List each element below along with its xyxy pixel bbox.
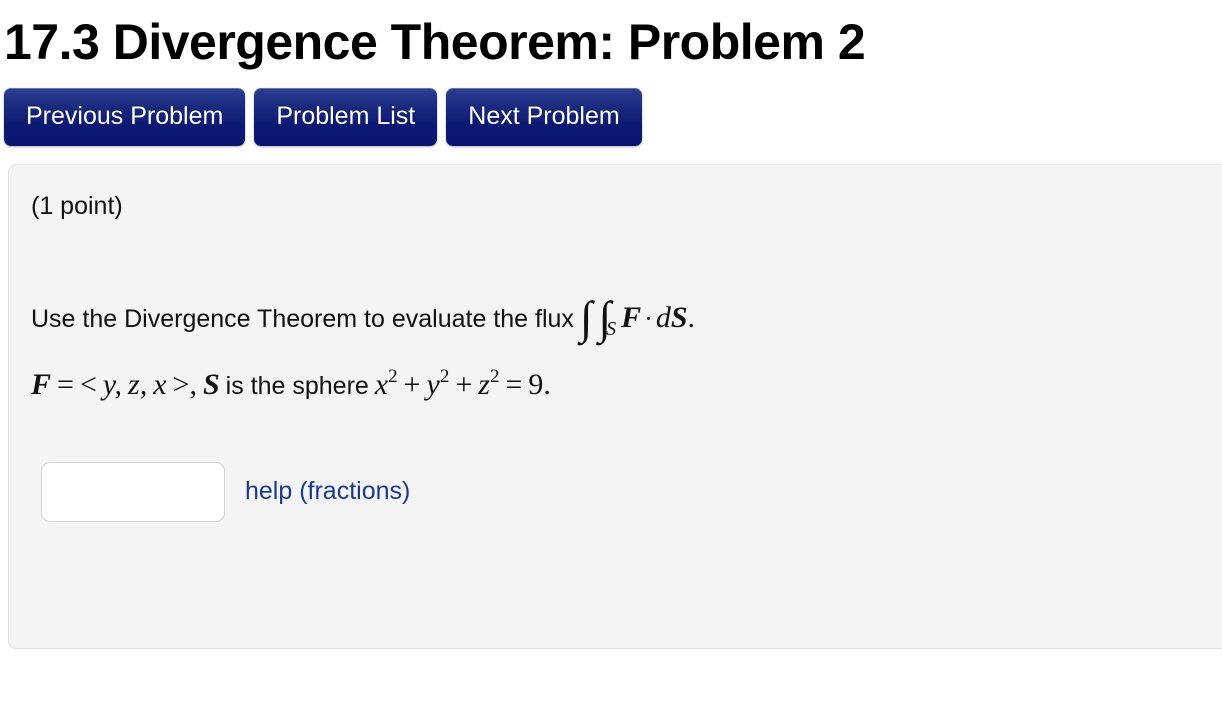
next-problem-button[interactable]: Next Problem — [446, 88, 641, 146]
field-component-3: x — [153, 368, 166, 401]
answer-row: help (fractions) — [31, 462, 1201, 522]
differential-d: d — [656, 301, 671, 334]
sphere-plus-1: + — [404, 368, 421, 401]
sphere-radius-squared-value: 9 — [528, 368, 543, 401]
sphere-plus-2: + — [455, 368, 472, 401]
sphere-sentence-period: . — [543, 368, 551, 401]
field-component-1: y, — [103, 368, 122, 401]
vector-field-symbol: F — [621, 301, 641, 334]
page-title: 17.3 Divergence Theorem: Problem 2 — [0, 0, 1222, 72]
answer-input[interactable] — [41, 462, 225, 522]
previous-problem-button[interactable]: Previous Problem — [4, 88, 245, 146]
sphere-term-3-exponent: 2 — [490, 366, 500, 387]
sphere-term-3-base: z — [478, 368, 490, 401]
angle-bracket-open: < — [80, 368, 97, 401]
field-definition-line: F=<y,z,x>,Sis the spherex2+y2+z2=9. — [31, 366, 1201, 404]
angle-bracket-close: > — [173, 368, 190, 401]
prompt-text: Use the Divergence Theorem to evaluate t… — [31, 305, 574, 333]
integral-subscript-surface: S — [606, 318, 616, 340]
problem-list-button[interactable]: Problem List — [254, 88, 437, 146]
field-symbol: F — [31, 368, 51, 401]
differential-surface-symbol: S — [671, 301, 688, 334]
surface-symbol: S — [203, 368, 220, 401]
surface-description-text: is the sphere — [226, 372, 369, 400]
sphere-term-2-base: y — [427, 368, 440, 401]
dot-product-operator: · — [641, 304, 656, 333]
problem-panel: (1 point) Use the Divergence Theorem to … — [8, 164, 1222, 649]
help-fractions-link[interactable]: help (fractions) — [245, 477, 410, 506]
flux-sentence-period: . — [688, 301, 696, 334]
problem-prompt: Use the Divergence Theorem to evaluate t… — [31, 299, 1201, 337]
point-value: (1 point) — [31, 191, 1201, 221]
sphere-term-1-base: x — [375, 368, 388, 401]
sphere-equals-sign: = — [505, 368, 522, 401]
sphere-term-1-exponent: 2 — [388, 366, 398, 387]
integral-symbol-outer: ∫ — [580, 292, 593, 343]
field-comma: , — [189, 368, 197, 401]
sphere-term-2-exponent: 2 — [440, 366, 450, 387]
problem-navigation-bar: Previous Problem Problem List Next Probl… — [0, 72, 1222, 146]
field-component-2: z, — [128, 368, 147, 401]
equals-sign: = — [57, 368, 74, 401]
